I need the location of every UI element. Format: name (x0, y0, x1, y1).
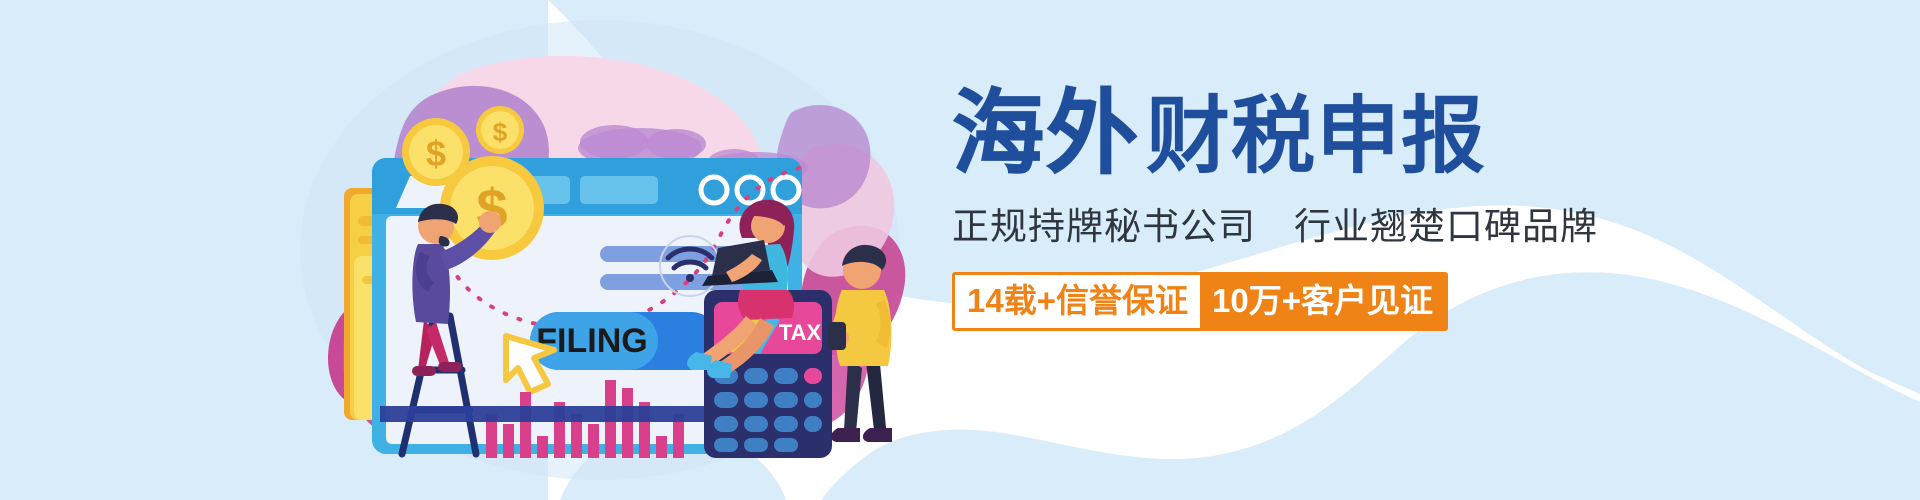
calculator-display-label: TAX (779, 320, 822, 345)
subtitle: 正规持牌秘书公司 行业翘楚口碑品牌 (952, 196, 1652, 250)
svg-text:$: $ (493, 117, 508, 147)
hero-illustration: FILING $ $ $ (300, 40, 940, 460)
status-badge-clients: 10万+客户见证 (1200, 275, 1445, 328)
badge-group: 14载+信誉保证 10万+客户见证 (952, 272, 1448, 331)
coin-medium: $ (402, 118, 470, 186)
headline-secondary: 财税申报 (1146, 94, 1486, 178)
status-badge-experience: 14载+信誉保证 (955, 275, 1200, 328)
man-with-phone (828, 245, 892, 442)
headline-primary: 海外 (952, 88, 1140, 180)
banner-root: FILING $ $ $ (0, 0, 1920, 500)
page-title: 海外 财税申报 (952, 88, 1652, 180)
text-block: 海外 财税申报 正规持牌秘书公司 行业翘楚口碑品牌 14载+信誉保证 10万+客… (952, 88, 1652, 331)
coin-small: $ (476, 106, 524, 154)
filing-button-label: FILING (536, 322, 647, 360)
svg-text:$: $ (426, 133, 446, 174)
